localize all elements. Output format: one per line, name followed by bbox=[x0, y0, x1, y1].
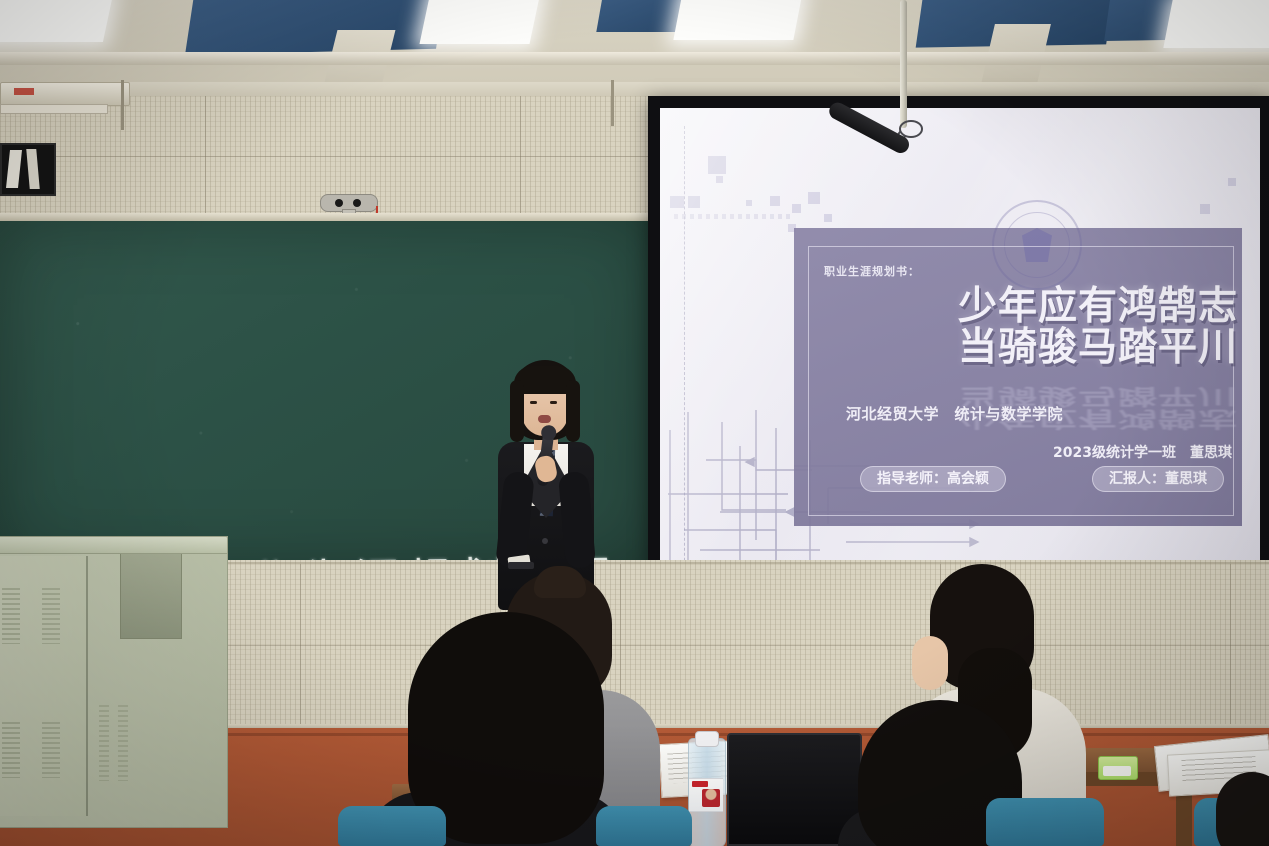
green-container bbox=[1098, 756, 1138, 780]
presenter-eye-left bbox=[530, 401, 537, 404]
ceiling-rail bbox=[0, 52, 1269, 65]
bottle-cap bbox=[695, 731, 719, 747]
slide-class-name-line: 2023级统计学一班 董思琪 bbox=[960, 442, 1232, 462]
presenter-hair-side-right bbox=[566, 380, 580, 442]
lectern-vent bbox=[42, 722, 60, 778]
ceiling-light-panel bbox=[1163, 0, 1269, 48]
roller-screen-bar bbox=[0, 104, 108, 114]
ceiling-light-panel bbox=[0, 0, 113, 42]
slide-presenter-pill: 汇报人：董思琪 bbox=[1092, 466, 1224, 492]
lectern-vent bbox=[42, 588, 60, 644]
slide-advisor-pill: 指导老师：高会颖 bbox=[860, 466, 1006, 492]
audience-gray-sweater-bun bbox=[534, 566, 586, 598]
presenter-hair-side-left bbox=[510, 380, 524, 442]
wall-seam bbox=[205, 96, 206, 222]
slide-main-title: 少年应有鸿鹄志 当骑骏马踏平川 bbox=[912, 286, 1238, 368]
presenter-jacket-button bbox=[542, 538, 548, 544]
presenter-eye-right bbox=[550, 401, 557, 404]
screen-hanger-right bbox=[611, 80, 614, 126]
lectern-vent bbox=[2, 722, 20, 778]
slide-kicker-label: 职业生涯规划书： bbox=[824, 263, 920, 279]
slide-college-line: 河北经贸大学 统计与数学学院 bbox=[846, 403, 1063, 424]
lectern-top-surface bbox=[0, 536, 228, 554]
classroom-presentation-photo: 第十五届职业生涯规划大赛 统计与数学 bbox=[0, 0, 1269, 846]
lectern-vent bbox=[99, 705, 109, 781]
bottle-brand-mark bbox=[692, 781, 708, 787]
screen-hanger-left bbox=[121, 80, 124, 130]
audience-cream-sweater-hand bbox=[912, 636, 948, 690]
roller-brand-label bbox=[14, 88, 34, 95]
presenter-pocket bbox=[508, 562, 534, 569]
lectern-vent bbox=[2, 588, 20, 644]
slide-title-line-1: 少年应有鸿鹄志 bbox=[958, 284, 1238, 329]
ceiling-light-panel bbox=[673, 0, 802, 40]
slide-title-line-2: 当骑骏马踏平川 bbox=[958, 325, 1238, 370]
wall-mounted-black-panel bbox=[0, 143, 56, 196]
projection-screen[interactable]: 职业生涯规划书： 少年应有鸿鹄志 当骑骏马踏平川 少年应有鸿鹄志 当骑骏马踏平川… bbox=[660, 108, 1260, 630]
ceiling-acoustic-panel bbox=[185, 0, 445, 55]
wall-seam bbox=[520, 96, 521, 222]
lectern-open-compartment bbox=[120, 552, 182, 639]
chair-back-right-1 bbox=[986, 798, 1104, 846]
lectern-vent bbox=[118, 705, 128, 781]
lower-wall-seam bbox=[1230, 564, 1231, 732]
boom-pole bbox=[900, 0, 907, 128]
lower-wall-seam bbox=[300, 564, 301, 732]
chair-back-left bbox=[338, 806, 446, 846]
camera-lens-left bbox=[335, 199, 343, 207]
ceiling-light-panel bbox=[419, 0, 540, 44]
presenter-mouth bbox=[538, 415, 551, 423]
bottle-label-photo bbox=[702, 789, 720, 807]
chair-back-center bbox=[596, 806, 692, 846]
